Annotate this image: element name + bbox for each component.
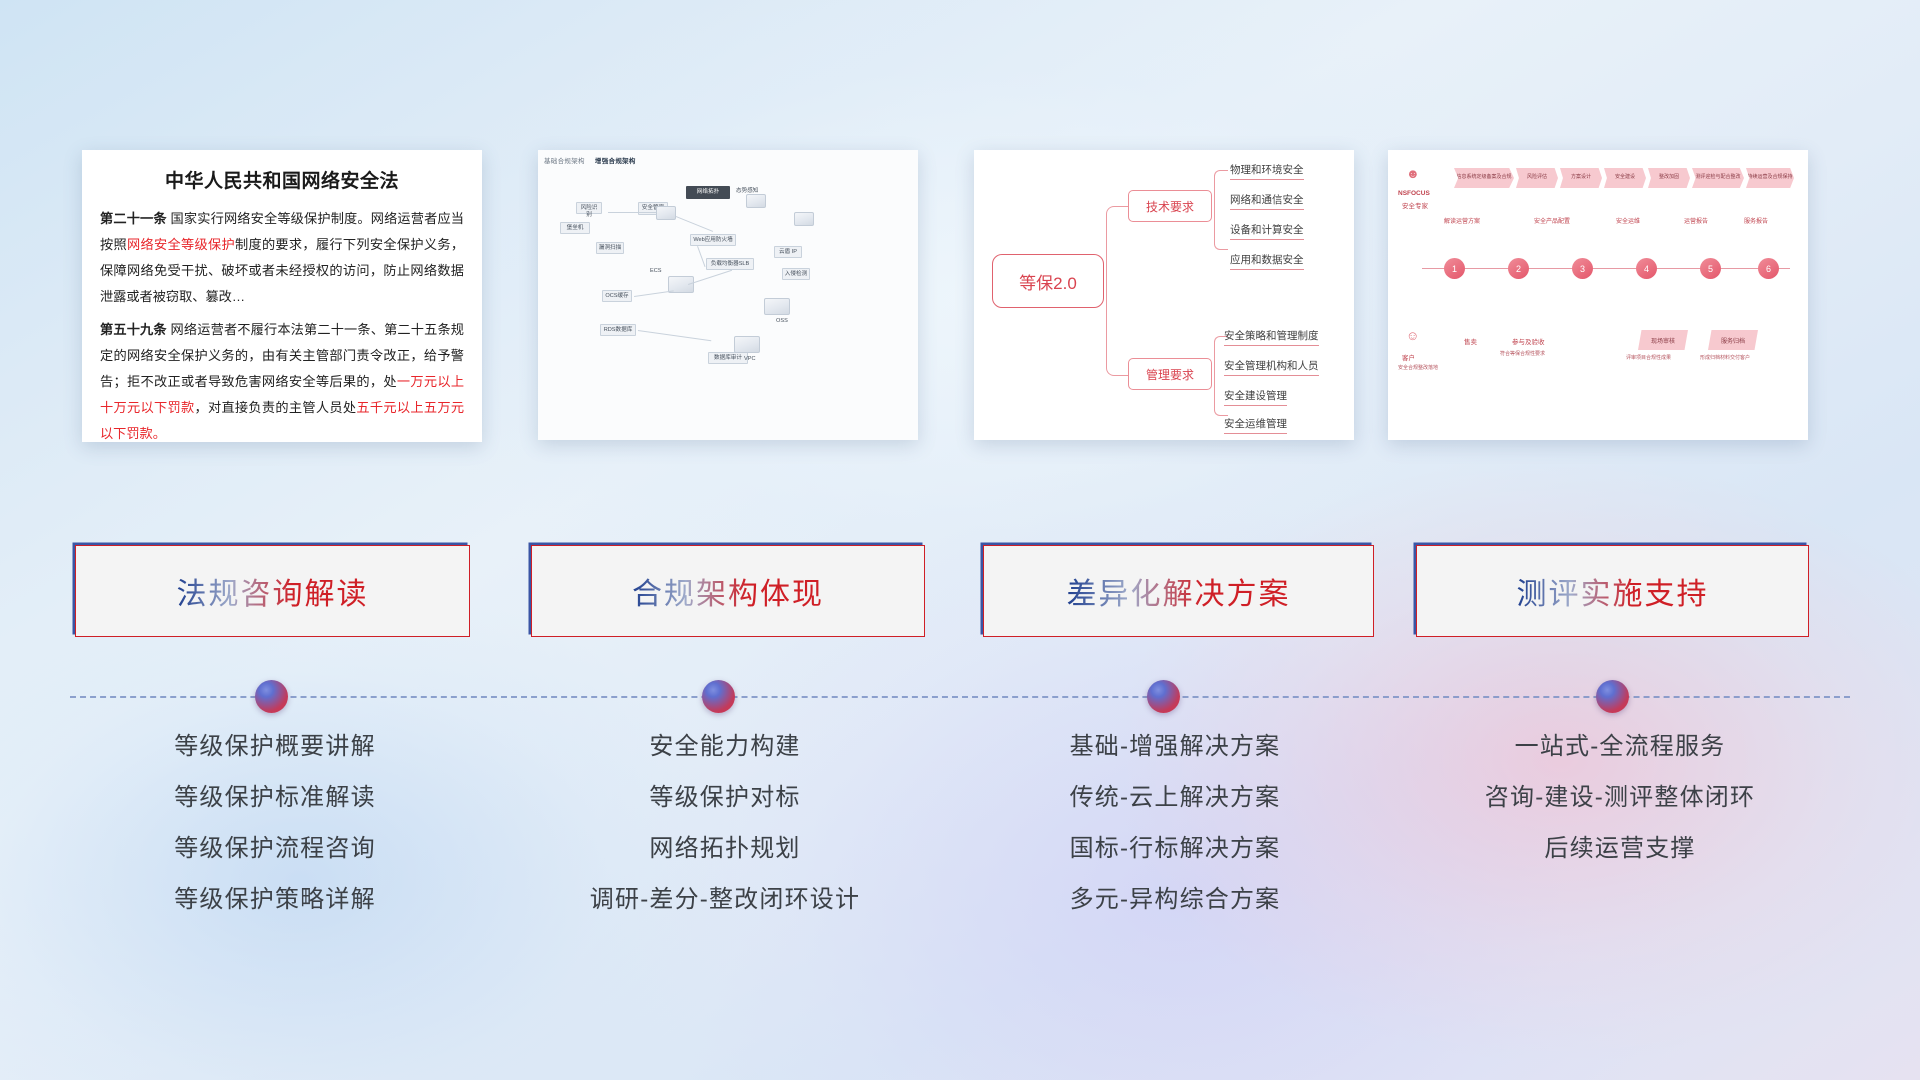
mindmap: 等保2.0 技术要求 管理要求 物理和环境安全 网络和通信安全 设备和计算安全 … — [974, 150, 1354, 440]
timeline-dot-2[interactable] — [702, 680, 735, 713]
law-article-21-label: 第二十一条 — [100, 211, 167, 226]
arch-cube-vpc — [734, 336, 760, 353]
arch-connector — [676, 216, 713, 232]
timeline-dot-3[interactable] — [1147, 680, 1180, 713]
mindmap-branch-management: 管理要求 — [1128, 358, 1212, 390]
mindmap-branch-connector — [1106, 280, 1128, 376]
arch-label-situational: 态势感知 — [736, 186, 758, 194]
law-title: 中华人民共和国网络安全法 — [100, 166, 464, 193]
detail-item: 基础-增强解决方案 — [980, 735, 1370, 759]
mindmap-root: 等保2.0 — [992, 254, 1104, 308]
mindmap-leaf: 安全建设管理 — [1224, 388, 1287, 406]
detail-column-assessment: 一站式-全流程服务 咨询-建设-测评整体闭环 后续运营支撑 — [1420, 735, 1820, 888]
roadmap: ☻ NSFOCUS 安全专家 信息系统定级备案及合规 风险评估 方案设计 安全建… — [1388, 150, 1808, 440]
roadmap-chip: 持续运营及合规保持 — [1746, 168, 1794, 188]
arch-connector — [638, 330, 711, 341]
detail-item: 等级保护策略详解 — [80, 888, 470, 912]
arch-node-db-audit: 数据库审计 — [708, 352, 748, 364]
detail-item: 传统-云上解决方案 — [980, 786, 1370, 810]
law-article-21-highlight: 网络安全等级保护 — [127, 237, 235, 252]
architecture-diagram: 基础合规架构 增强合规架构 网络拓扑 安全管家 风险识别 堡垒机 漏洞扫描 We… — [538, 150, 918, 440]
roadmap-caption: 符合等保合规性要求 — [1500, 350, 1545, 357]
detail-column-regulation: 等级保护概要讲解 等级保护标准解读 等级保护流程咨询 等级保护策略详解 — [80, 735, 470, 939]
detail-item: 等级保护概要讲解 — [80, 735, 470, 759]
detail-column-architecture: 安全能力构建 等级保护对标 网络拓扑规划 调研-差分-整改闭环设计 — [530, 735, 920, 939]
arch-connector — [688, 270, 732, 285]
arch-label-vpc: VPC — [744, 356, 756, 362]
roadmap-step: 4 — [1636, 258, 1657, 279]
detail-item: 多元-异构综合方案 — [980, 888, 1370, 912]
detail-item: 调研-差分-整改闭环设计 — [530, 888, 920, 912]
roadmap-chip-band: 信息系统定级备案及合规 风险评估 方案设计 安全建设 整改加固 测评迎检与配合整… — [1402, 168, 1794, 214]
slide-canvas: 中华人民共和国网络安全法 第二十一条 国家实行网络安全等级保护制度。网络运营者应… — [0, 0, 1920, 1080]
arch-cube-oss — [764, 298, 790, 315]
roadmap-chip: 测评迎检与配合整改 — [1692, 168, 1744, 188]
roadmap-badge: 服务归档 — [1708, 330, 1758, 350]
roadmap-chip: 风险评估 — [1516, 168, 1558, 188]
detail-item: 等级保护标准解读 — [80, 786, 470, 810]
arch-node-ids: 入侵检测 — [782, 268, 810, 280]
timeline-dashed-line — [70, 696, 1850, 698]
mindmap-branch-connector — [1106, 206, 1128, 284]
arch-connector — [634, 290, 674, 296]
roadmap-bottom-tag: 售卖 — [1464, 336, 1477, 346]
detail-item: 后续运营支撑 — [1420, 837, 1820, 861]
detail-item: 国标-行标解决方案 — [980, 837, 1370, 861]
timeline-dot-4[interactable] — [1596, 680, 1629, 713]
detail-columns: 等级保护概要讲解 等级保护标准解读 等级保护流程咨询 等级保护策略详解 安全能力… — [0, 735, 1920, 975]
mindmap-leaf: 设备和计算安全 — [1230, 222, 1304, 240]
mindmap-leaf: 应用和数据安全 — [1230, 252, 1304, 270]
roadmap-step: 3 — [1572, 258, 1593, 279]
card-compliance-architecture: 基础合规架构 增强合规架构 网络拓扑 安全管家 风险识别 堡垒机 漏洞扫描 We… — [538, 150, 918, 440]
detail-column-solution: 基础-增强解决方案 传统-云上解决方案 国标-行标解决方案 多元-异构综合方案 — [980, 735, 1370, 939]
mindmap-leaf-connector — [1214, 206, 1228, 250]
arch-connector — [608, 212, 656, 213]
card-cybersecurity-law: 中华人民共和国网络安全法 第二十一条 国家实行网络安全等级保护制度。网络运营者应… — [82, 150, 482, 442]
mindmap-leaf: 网络和通信安全 — [1230, 192, 1304, 210]
headline-label: 测评实施支持 — [1517, 569, 1709, 613]
roadmap-sublabel: 解读运营方案 — [1444, 216, 1480, 225]
arch-connector — [697, 246, 705, 267]
headline-box-compliance-architecture[interactable]: 合规架构体现 — [531, 545, 925, 637]
customer-avatar-icon: ☺ — [1406, 328, 1419, 343]
mindmap-leaf: 安全运维管理 — [1224, 416, 1287, 434]
roadmap-caption: 安全合规整改落地 — [1398, 364, 1438, 371]
headline-row: 法规咨询解读 合规架构体现 差异化解决方案 测评实施支持 — [0, 545, 1920, 640]
headline-box-assessment-support[interactable]: 测评实施支持 — [1416, 545, 1809, 637]
roadmap-chip: 安全建设 — [1604, 168, 1646, 188]
image-card-row: 中华人民共和国网络安全法 第二十一条 国家实行网络安全等级保护制度。网络运营者应… — [0, 150, 1920, 450]
detail-item: 等级保护对标 — [530, 786, 920, 810]
arch-node-rds: RDS数据库 — [600, 324, 636, 336]
roadmap-chip: 整改加固 — [1648, 168, 1690, 188]
arch-cube-user — [746, 194, 766, 208]
arch-node-vulnscan: 漏洞扫描 — [596, 242, 624, 254]
arch-node-ocs: OCS缓存 — [602, 290, 632, 302]
roadmap-caption: 评审项目合规性成果 — [1626, 354, 1671, 361]
roadmap-chip: 方案设计 — [1560, 168, 1602, 188]
architecture-tab-enhanced: 增强合规架构 — [595, 158, 636, 165]
detail-item: 安全能力构建 — [530, 735, 920, 759]
headline-box-regulation-consulting[interactable]: 法规咨询解读 — [75, 545, 470, 637]
law-article-59-text-b: ，对直接负责的主管人员处 — [194, 400, 356, 415]
arch-node-cloudshield: 云盾 IP — [774, 246, 802, 258]
roadmap-badge: 现场审核 — [1638, 330, 1688, 350]
roadmap-chip: 信息系统定级备案及合规 — [1454, 168, 1514, 188]
mindmap-leaf: 安全策略和管理制度 — [1224, 328, 1319, 346]
law-article-59-label: 第五十九条 — [100, 322, 167, 337]
mindmap-leaf-connector — [1214, 170, 1228, 210]
roadmap-bottom-tag: 参与及验收 — [1512, 336, 1545, 346]
roadmap-caption: 形成归档材料交付客户 — [1700, 354, 1750, 361]
roadmap-step: 5 — [1700, 258, 1721, 279]
mindmap-leaf: 物理和环境安全 — [1230, 162, 1304, 180]
arch-cube-edge — [794, 212, 814, 226]
timeline-dot-1[interactable] — [255, 680, 288, 713]
roadmap-step: 2 — [1508, 258, 1529, 279]
roadmap-sublabel: 安全运维 — [1616, 216, 1640, 225]
roadmap-sublabel: 运营报告 — [1684, 216, 1708, 225]
roadmap-sublabel: 安全产品配置 — [1534, 216, 1570, 225]
arch-cube-situational — [656, 206, 676, 220]
arch-node-slb: 负载均衡器SLB — [706, 258, 754, 270]
arch-label-ecs: ECS — [650, 268, 662, 274]
roadmap-step: 6 — [1758, 258, 1779, 279]
architecture-tab-basic: 基础合规架构 — [544, 158, 585, 165]
headline-label: 法规咨询解读 — [177, 569, 369, 613]
detail-item: 网络拓扑规划 — [530, 837, 920, 861]
headline-label: 差异化解决方案 — [1067, 569, 1291, 613]
arch-label-oss: OSS — [776, 318, 788, 324]
mindmap-leaf: 安全管理机构和人员 — [1224, 358, 1319, 376]
arch-node-waf: Web应用防火墙 — [690, 234, 736, 246]
roadmap-step: 1 — [1444, 258, 1465, 279]
detail-item: 咨询-建设-测评整体闭环 — [1420, 786, 1820, 810]
arch-node-risk: 风险识别 — [576, 202, 602, 214]
architecture-tabs: 基础合规架构 增强合规架构 — [544, 155, 644, 165]
headline-label: 合规架构体现 — [632, 569, 824, 613]
arch-node-bastion: 堡垒机 — [560, 222, 590, 234]
roadmap-sublabel: 服务报告 — [1744, 216, 1768, 225]
mindmap-branch-technical: 技术要求 — [1128, 190, 1212, 222]
law-text-block: 中华人民共和国网络安全法 第二十一条 国家实行网络安全等级保护制度。网络运营者应… — [82, 150, 482, 442]
roadmap-axis — [1422, 268, 1790, 269]
roadmap-bottom-tag: 客户 — [1402, 352, 1415, 362]
detail-item: 等级保护流程咨询 — [80, 837, 470, 861]
headline-box-differentiated-solution[interactable]: 差异化解决方案 — [983, 545, 1374, 637]
detail-item: 一站式-全流程服务 — [1420, 735, 1820, 759]
arch-node-topology: 网络拓扑 — [686, 186, 730, 199]
law-article-21: 第二十一条 国家实行网络安全等级保护制度。网络运营者应当按照网络安全等级保护制度… — [100, 206, 464, 311]
card-dengbao-mindmap: 等保2.0 技术要求 管理要求 物理和环境安全 网络和通信安全 设备和计算安全 … — [974, 150, 1354, 440]
law-article-59: 第五十九条 网络运营者不履行本法第二十一条、第二十五条规定的网络安全保护义务的，… — [100, 317, 464, 442]
card-service-roadmap: ☻ NSFOCUS 安全专家 信息系统定级备案及合规 风险评估 方案设计 安全建… — [1388, 150, 1808, 440]
